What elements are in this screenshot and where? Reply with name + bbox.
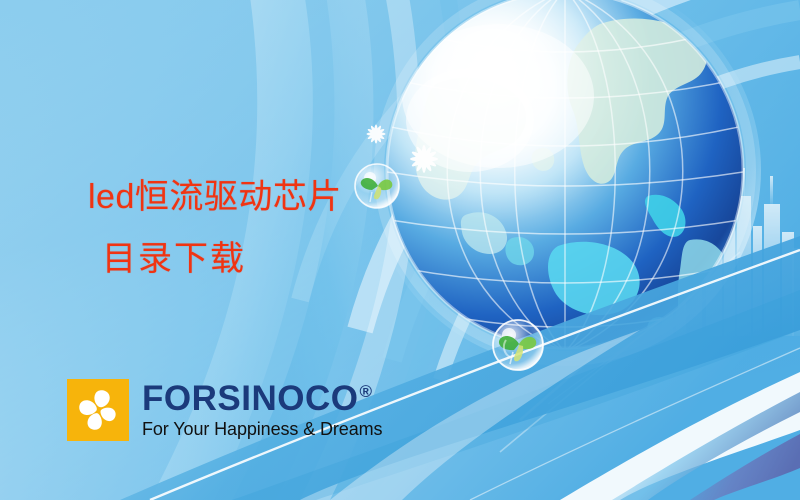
- logo-text-block: FORSINOCO ® For Your Happiness & Dreams: [142, 381, 382, 440]
- headline: led恒流驱动芯片 目录下载: [88, 166, 342, 290]
- registered-trademark-icon: ®: [359, 383, 372, 400]
- promo-banner: led恒流驱动芯片 目录下载 FORSINOCO ® For Your Happ…: [0, 0, 800, 500]
- company-logo: FORSINOCO ® For Your Happiness & Dreams: [67, 379, 382, 441]
- headline-line-2: 目录下载: [88, 228, 342, 290]
- logo-wordmark: FORSINOCO ®: [142, 381, 382, 417]
- logo-wordmark-text: FORSINOCO: [142, 381, 358, 417]
- bubble-leaf-upper: [355, 164, 399, 208]
- bubble-leaf-lower: [493, 320, 543, 370]
- logo-mark-icon: [67, 379, 129, 441]
- headline-line-1: led恒流驱动芯片: [88, 166, 342, 228]
- logo-tagline: For Your Happiness & Dreams: [142, 418, 382, 440]
